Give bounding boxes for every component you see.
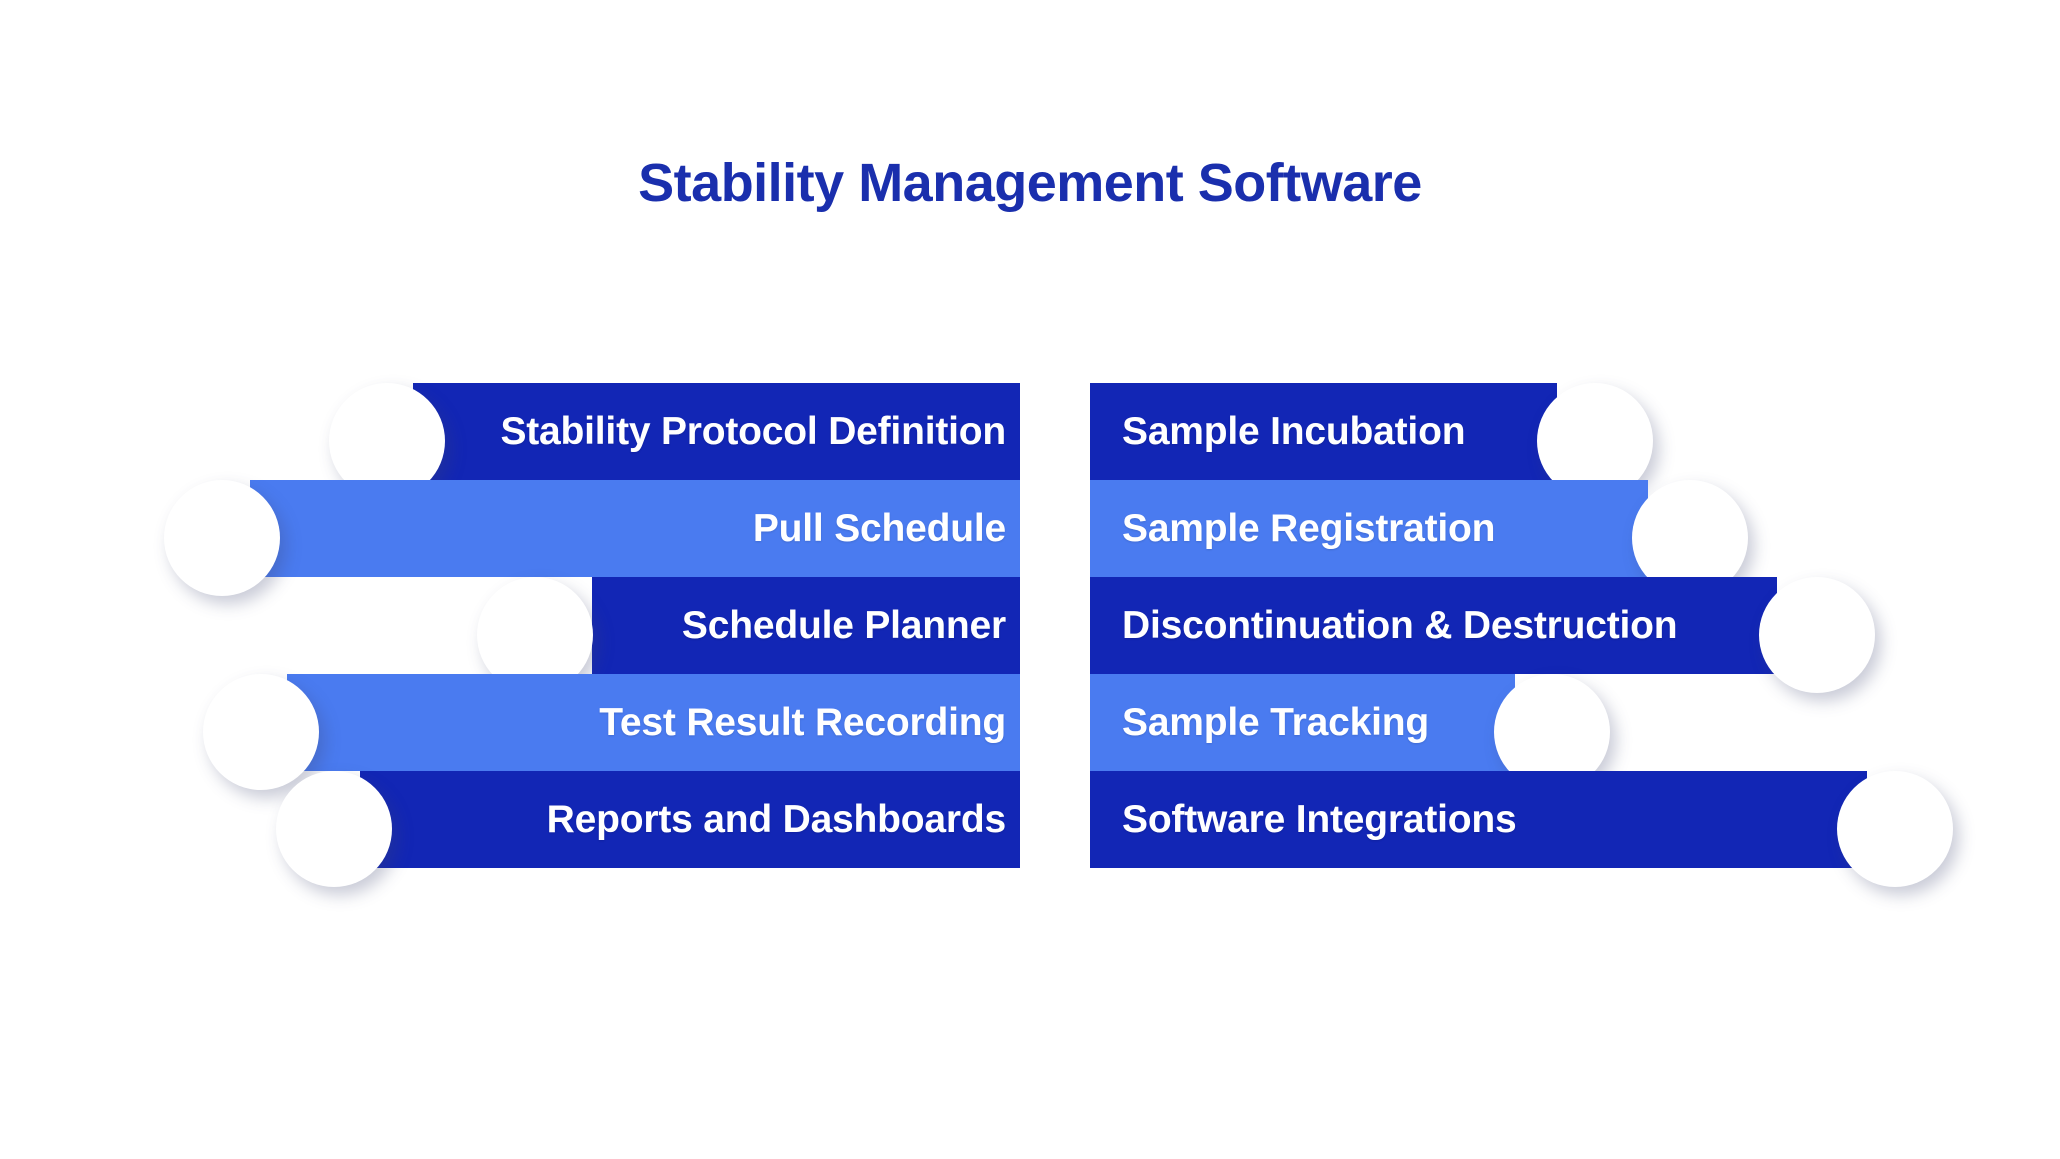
feature-label: Test Result Recording [599, 703, 1006, 742]
bullet-circle-icon-left-5 [276, 771, 392, 887]
feature-row-discontinuation-and-destruction[interactable]: Discontinuation & Destruction [1090, 577, 1777, 674]
feature-row-test-result-recording[interactable]: Test Result Recording [287, 674, 1020, 771]
bullet-circle-icon-left-2 [164, 480, 280, 596]
feature-label: Reports and Dashboards [547, 800, 1006, 839]
feature-label: Sample Tracking [1122, 703, 1429, 742]
feature-label: Sample Incubation [1122, 412, 1465, 451]
feature-row-sample-tracking[interactable]: Sample Tracking [1090, 674, 1515, 771]
feature-label: Stability Protocol Definition [500, 412, 1006, 451]
feature-row-stability-protocol-definition[interactable]: Stability Protocol Definition [413, 383, 1020, 480]
bullet-circle-icon-right-3 [1759, 577, 1875, 693]
feature-label: Discontinuation & Destruction [1122, 606, 1677, 645]
feature-label: Pull Schedule [753, 509, 1006, 548]
page-title: Stability Management Software [0, 152, 2060, 214]
feature-row-schedule-planner[interactable]: Schedule Planner [592, 577, 1020, 674]
feature-row-sample-registration[interactable]: Sample Registration [1090, 480, 1648, 577]
feature-row-reports-and-dashboards[interactable]: Reports and Dashboards [360, 771, 1020, 868]
feature-row-software-integrations[interactable]: Software Integrations [1090, 771, 1867, 868]
infographic-canvas: Stability Management Software Stability … [0, 0, 2060, 1159]
bullet-circle-icon-left-4 [203, 674, 319, 790]
bullet-circle-icon-right-5 [1837, 771, 1953, 887]
feature-label: Sample Registration [1122, 509, 1495, 548]
feature-label: Schedule Planner [682, 606, 1006, 645]
feature-label: Software Integrations [1122, 800, 1517, 839]
feature-row-sample-incubation[interactable]: Sample Incubation [1090, 383, 1557, 480]
feature-row-pull-schedule[interactable]: Pull Schedule [250, 480, 1020, 577]
